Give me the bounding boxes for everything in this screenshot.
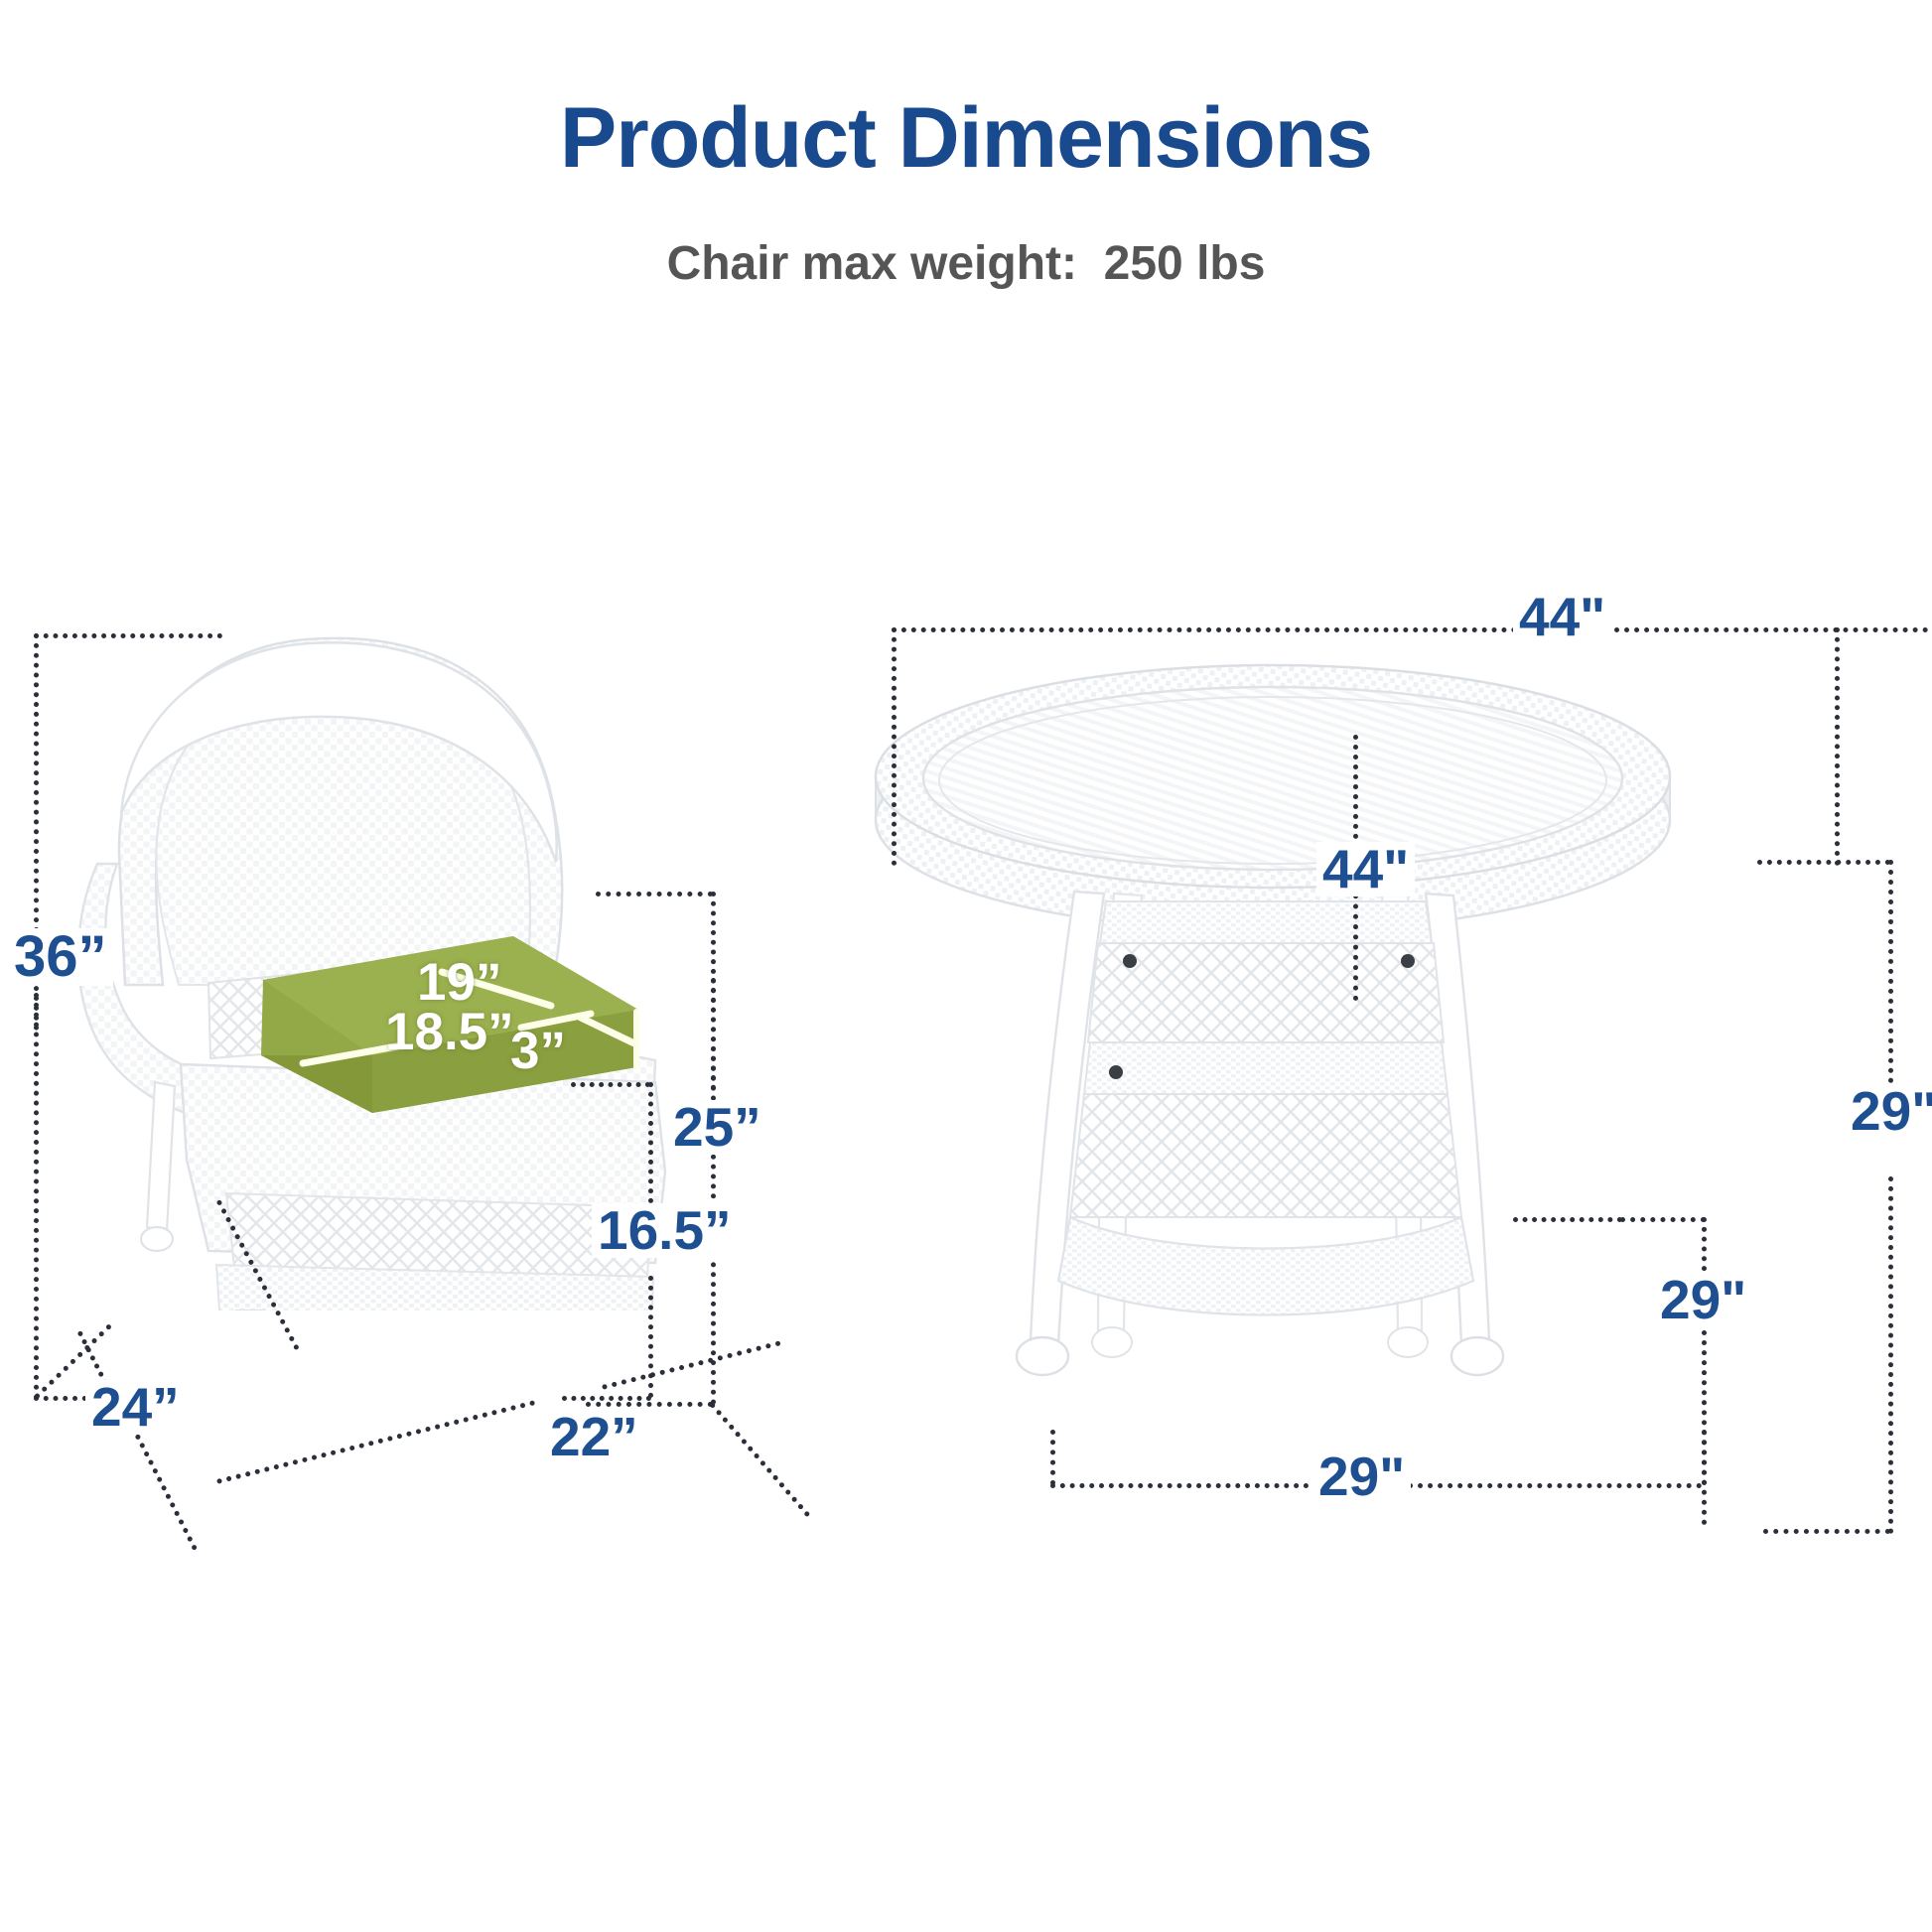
table-base-width-right-tick — [1702, 1430, 1707, 1485]
chair-width-guide-right — [602, 1340, 781, 1390]
chair-seat-top-guide — [571, 1082, 650, 1087]
table-base-width-left-tick — [1050, 1430, 1055, 1485]
table-width-guide-right — [1604, 627, 1932, 632]
table-width-guide-left-tick — [892, 627, 897, 866]
table-width-guide — [892, 627, 1517, 632]
table-depth-guide-lower — [1353, 884, 1358, 1001]
chair-height-label: 36” — [8, 928, 113, 986]
chair-seat-height-label: 16.5” — [592, 1203, 738, 1258]
cushion-width-label: 19” — [417, 956, 501, 1009]
table-base-width-guide-left — [1050, 1483, 1318, 1488]
table-height-bottom-guide — [1763, 1529, 1890, 1534]
cushion-thickness-label: 3” — [510, 1025, 566, 1077]
chair-seatback-guide-vertical-lower — [711, 978, 716, 1405]
table-base-depth-label: 29" — [1654, 1273, 1752, 1327]
chair-top-guide — [34, 633, 222, 638]
table-illustration — [864, 645, 1678, 1469]
chair-seat-guide-vertical-upper — [648, 1082, 653, 1203]
chair-max-weight-subtitle: Chair max weight: 250 lbs — [0, 240, 1932, 288]
chair-perspective-guide-right — [709, 1402, 810, 1517]
table-height-label: 29" — [1845, 1084, 1932, 1139]
product-dimensions-infographic: Product Dimensions Chair max weight: 250… — [0, 0, 1932, 1932]
chair-height-guide-vertical-lower — [34, 993, 39, 1400]
table-depth-guide-upper — [1353, 735, 1358, 849]
table-base-width-label: 29" — [1312, 1449, 1411, 1504]
table-base-depth-bottom-guide — [1620, 1217, 1706, 1222]
cushion-depth-label: 18.5” — [385, 1006, 514, 1058]
table-base-width-guide-right — [1408, 1483, 1702, 1488]
table-width-label: 44" — [1513, 590, 1611, 644]
chair-seatback-top-guide — [596, 892, 713, 897]
chair-seat-guide-vertical-lower — [648, 1276, 653, 1398]
table-width-guide-right-tick — [1835, 627, 1840, 866]
chair-width-guide-left — [216, 1400, 535, 1484]
table-depth-label: 44" — [1316, 842, 1415, 897]
chair-seatback-height-label: 25” — [667, 1100, 767, 1155]
table-height-top-guide — [1757, 860, 1890, 865]
chair-seat-bottom-guide — [562, 1396, 651, 1401]
chair-depth-guide-lower — [135, 1434, 198, 1551]
table-height-guide-upper — [1888, 860, 1893, 1083]
chair-width-label: 22” — [544, 1410, 644, 1464]
chair-depth-label: 24” — [85, 1380, 186, 1435]
table-base-depth-guide-lower — [1702, 1330, 1707, 1525]
table-height-guide-lower — [1888, 1176, 1893, 1534]
table-base-depth-top-guide — [1513, 1217, 1622, 1222]
page-title: Product Dimensions — [0, 95, 1932, 181]
